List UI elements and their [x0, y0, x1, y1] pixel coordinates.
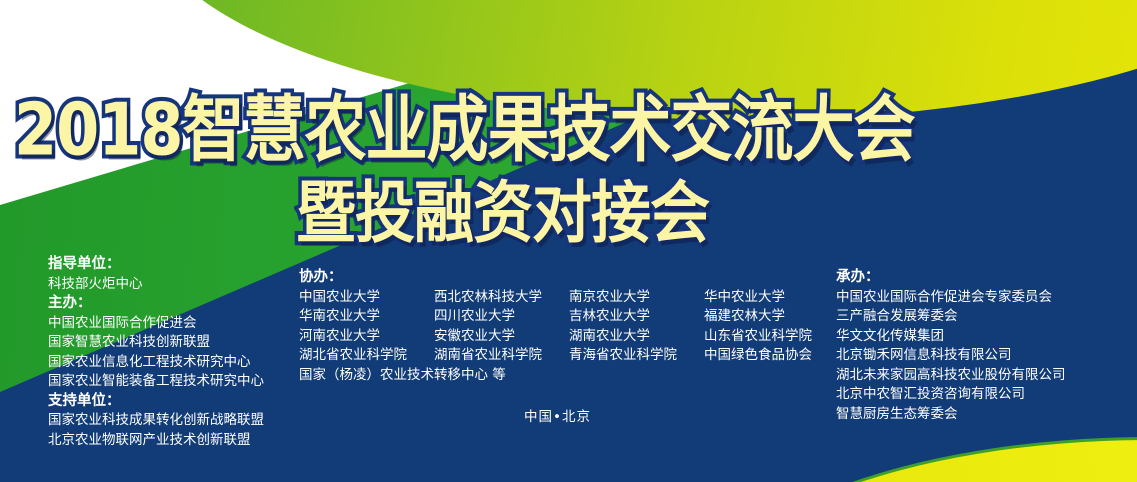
organizer-item: 智慧厨房生态筹委会 [836, 405, 1066, 425]
organizer-item: 中国农业国际合作促进会专家委员会 [836, 288, 1066, 308]
guidance-item: 科技部火炬中心 [48, 275, 264, 295]
coorganizer-item: 青海省农业科学院 [569, 346, 704, 366]
host-item: 国家农业智能装备工程技术研究中心 [48, 372, 264, 392]
support-header: 支持单位： [48, 392, 264, 412]
host-header: 主办： [48, 294, 264, 314]
host-item: 国家农业信息化工程技术研究中心 [48, 353, 264, 373]
organizer-item: 三产融合发展筹委会 [836, 307, 1066, 327]
support-item: 北京农业物联网产业技术创新联盟 [48, 431, 264, 451]
conference-banner: 2018智慧农业成果技术交流大会 暨投融资对接会 指导单位： 科技部火炬中心 主… [0, 0, 1137, 482]
organizer-item: 北京锄禾网信息科技有限公司 [836, 346, 1066, 366]
organizer-item: 华文文化传媒集团 [836, 327, 1066, 347]
coorganizer-last-line: 国家（杨凌）农业技术转移中心 等 [299, 366, 839, 386]
host-item: 中国农业国际合作促进会 [48, 314, 264, 334]
coorganizer-header: 协办： [299, 268, 839, 288]
coorganizer-item: 西北农林科技大学 [434, 288, 569, 308]
coorganizer-item: 吉林农业大学 [569, 307, 704, 327]
coorganizer-item: 福建农林大学 [704, 307, 839, 327]
organizer-item: 湖北未来家园高科技农业股份有限公司 [836, 366, 1066, 386]
middle-info-column: 协办： 中国农业大学 西北农林科技大学 南京农业大学 华中农业大学 华南农业大学… [299, 268, 839, 385]
coorganizer-grid: 中国农业大学 西北农林科技大学 南京农业大学 华中农业大学 华南农业大学 四川农… [299, 288, 839, 366]
coorganizer-item: 湖南农业大学 [569, 327, 704, 347]
coorganizer-item: 山东省农业科学院 [704, 327, 839, 347]
coorganizer-item: 中国绿色食品协会 [704, 346, 839, 366]
coorganizer-item: 河南农业大学 [299, 327, 434, 347]
organizer-item: 北京中农智汇投资咨询有限公司 [836, 385, 1066, 405]
coorganizer-item: 华南农业大学 [299, 307, 434, 327]
location-label: 中国•北京 [524, 405, 591, 425]
coorganizer-item: 四川农业大学 [434, 307, 569, 327]
left-info-column: 指导单位： 科技部火炬中心 主办： 中国农业国际合作促进会 国家智慧农业科技创新… [48, 255, 264, 450]
coorganizer-item: 湖北省农业科学院 [299, 346, 434, 366]
coorganizer-item: 南京农业大学 [569, 288, 704, 308]
support-item: 国家农业科技成果转化创新战略联盟 [48, 411, 264, 431]
organizer-header: 承办： [836, 268, 1066, 288]
coorganizer-item: 安徽农业大学 [434, 327, 569, 347]
coorganizer-item: 湖南省农业科学院 [434, 346, 569, 366]
coorganizer-item: 华中农业大学 [704, 288, 839, 308]
right-info-column: 承办： 中国农业国际合作促进会专家委员会 三产融合发展筹委会 华文文化传媒集团 … [836, 268, 1066, 424]
coorganizer-item: 中国农业大学 [299, 288, 434, 308]
guidance-header: 指导单位： [48, 255, 264, 275]
host-item: 国家智慧农业科技创新联盟 [48, 333, 264, 353]
